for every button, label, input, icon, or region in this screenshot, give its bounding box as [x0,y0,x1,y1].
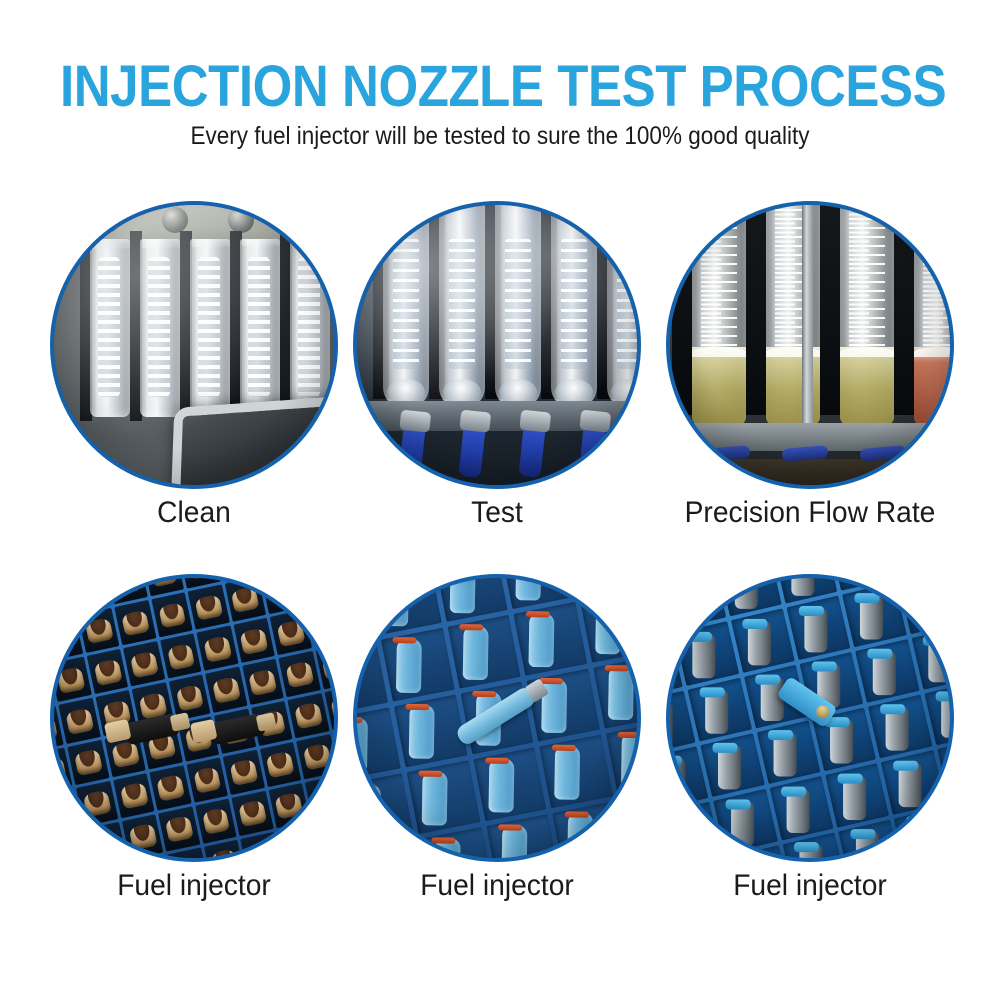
injector-tray-brown-tops-photo [54,578,334,858]
step-label-test: Test [347,496,648,530]
process-step-fuel-injector-1: Fuel injector [34,573,354,923]
fuel-injector-3-photo-wrap [670,578,950,858]
test-photo-ring [357,205,637,485]
process-step-clean: Clean [34,200,354,550]
fuel-injector-2-photo-ring [357,578,637,858]
clean-photo-wrap [54,205,334,485]
step-label-clean: Clean [44,496,345,530]
step-label-fuel-injector-3: Fuel injector [660,869,961,903]
fuel-injector-2-photo-wrap [357,578,637,858]
fuel-injector-1-photo-wrap [54,578,334,858]
clean-photo-ring [54,205,334,485]
process-step-test: Test [337,200,657,550]
fuel-injector-3-photo-ring [670,578,950,858]
process-step-precision-flow-rate: Precision Flow Rate [650,200,970,550]
step-label-precision-flow-rate: Precision Flow Rate [660,496,961,530]
injector-tray-grey-bodies-photo [670,578,950,858]
injector-spray-test-photo [357,205,637,485]
injection-nozzle-test-process-page: INJECTION NOZZLE TEST PROCESS Every fuel… [0,0,1000,1000]
process-step-fuel-injector-3: Fuel injector [650,573,970,923]
ultrasonic-cleaning-tank-photo [54,205,334,485]
precision-flow-photo-wrap [670,205,950,485]
process-steps-grid: Clean [0,0,1000,1000]
process-step-fuel-injector-2: Fuel injector [337,573,657,923]
precision-flow-photo-ring [670,205,950,485]
injector-tray-blue-bodies-photo [357,578,637,858]
test-photo-wrap [357,205,637,485]
step-label-fuel-injector-2: Fuel injector [347,869,648,903]
fuel-injector-1-photo-ring [54,578,334,858]
graduated-cylinder-flow-photo [670,205,950,485]
step-label-fuel-injector-1: Fuel injector [44,869,345,903]
